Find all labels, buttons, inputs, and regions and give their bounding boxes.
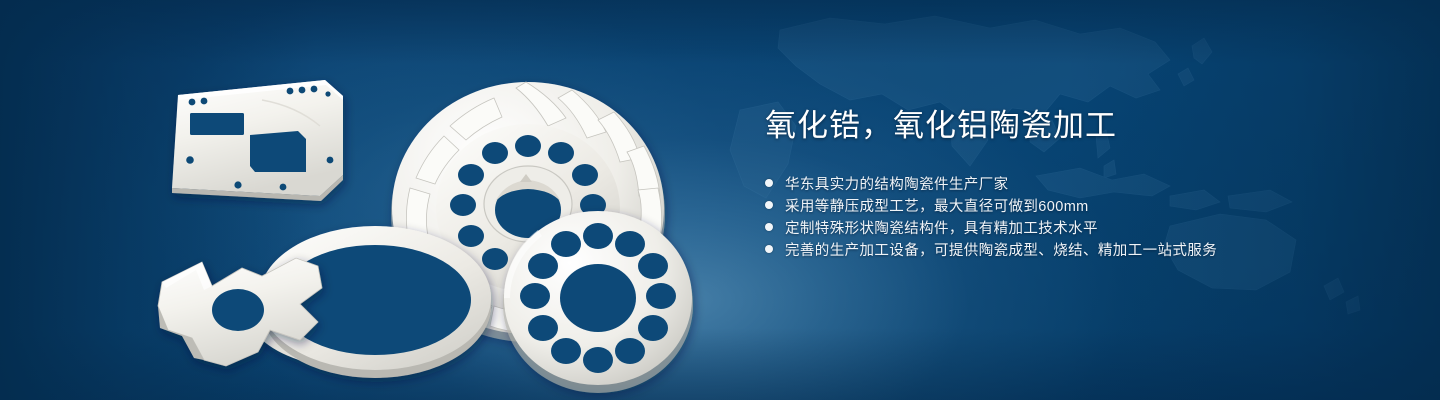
ceramic-plate-part xyxy=(172,80,343,201)
feature-text: 采用等静压成型工艺，最大直径可做到600mm xyxy=(785,195,1089,216)
feature-text: 完善的生产加工设备，可提供陶瓷成型、烧结、精加工一站式服务 xyxy=(785,239,1217,260)
feature-item: 定制特殊形状陶瓷结构件，具有精加工技术水平 xyxy=(765,216,1405,238)
hero-banner: 氧化锆，氧化铝陶瓷加工 华东具实力的结构陶瓷件生产厂家 采用等静压成型工艺，最大… xyxy=(0,0,1440,400)
feature-item: 完善的生产加工设备，可提供陶瓷成型、烧结、精加工一站式服务 xyxy=(765,238,1405,260)
banner-headline: 氧化锆，氧化铝陶瓷加工 xyxy=(765,106,1405,146)
feature-item: 采用等静压成型工艺，最大直径可做到600mm xyxy=(765,194,1405,216)
bullet-dot-icon xyxy=(765,201,773,209)
bullet-dot-icon xyxy=(765,245,773,253)
feature-text: 华东具实力的结构陶瓷件生产厂家 xyxy=(785,173,1009,194)
bullet-dot-icon xyxy=(765,179,773,187)
product-photo-group xyxy=(150,0,770,400)
banner-copy: 氧化锆，氧化铝陶瓷加工 华东具实力的结构陶瓷件生产厂家 采用等静压成型工艺，最大… xyxy=(765,106,1405,260)
feature-text: 定制特殊形状陶瓷结构件，具有精加工技术水平 xyxy=(785,217,1098,238)
bullet-dot-icon xyxy=(765,223,773,231)
feature-item: 华东具实力的结构陶瓷件生产厂家 xyxy=(765,172,1405,194)
feature-list: 华东具实力的结构陶瓷件生产厂家 采用等静压成型工艺，最大直径可做到600mm 定… xyxy=(765,172,1405,260)
ceramic-perforated-disc-part xyxy=(503,211,693,393)
